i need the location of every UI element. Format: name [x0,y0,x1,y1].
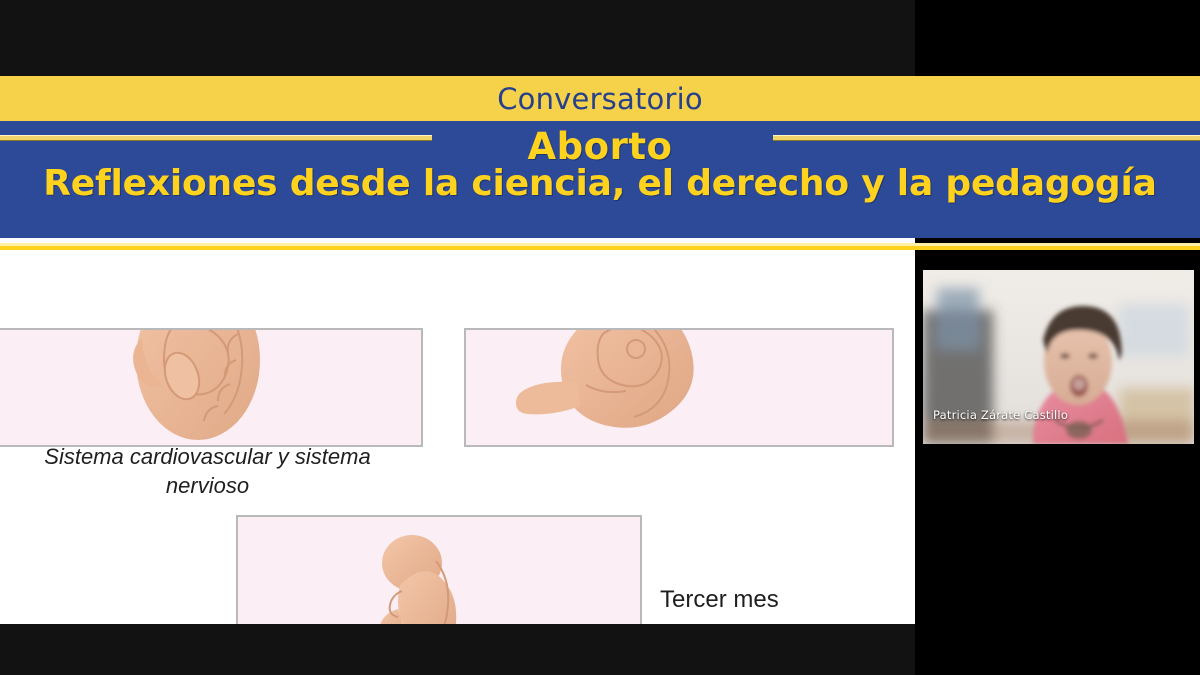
letterbox-bottom-right [915,456,1200,675]
banner-yellow-band: Conversatorio [0,76,1200,121]
letterbox-bottom-left [0,624,915,675]
caption-cardiovascular-nervous-system: Sistema cardiovascular y sistema nervios… [10,442,405,500]
letterbox-top-left [0,0,915,76]
banner-main-title: Aborto [0,125,1200,168]
video-letterbox-bottom [920,446,1197,456]
embryo-head-illustration [112,328,282,447]
slide-image-embryo-side-profile [464,328,894,447]
participant-video-feed: Patricia Zárate Castillo [923,270,1194,444]
banner-kicker-text: Conversatorio [0,76,1200,121]
caption-third-month: Tercer mes [660,586,779,614]
slide-image-fetus-curled [236,515,642,624]
slide-image-embryo-head-closeup [0,328,423,447]
screen-share-window: Sistema cardiovascular y sistema nervios… [0,0,1200,675]
slide-content-area: Sistema cardiovascular y sistema nervios… [0,314,915,624]
fetus-illustration [348,531,498,624]
banner-underline-highlight [0,243,1200,246]
embryo-profile-illustration [486,328,756,447]
participant-video-tile[interactable]: Patricia Zárate Castillo [920,260,1197,456]
video-letterbox-top [920,260,1197,270]
banner-subtitle: Reflexiones desde la ciencia, el derecho… [0,163,1200,204]
participant-name-label: Patricia Zárate Castillo [933,408,1068,422]
